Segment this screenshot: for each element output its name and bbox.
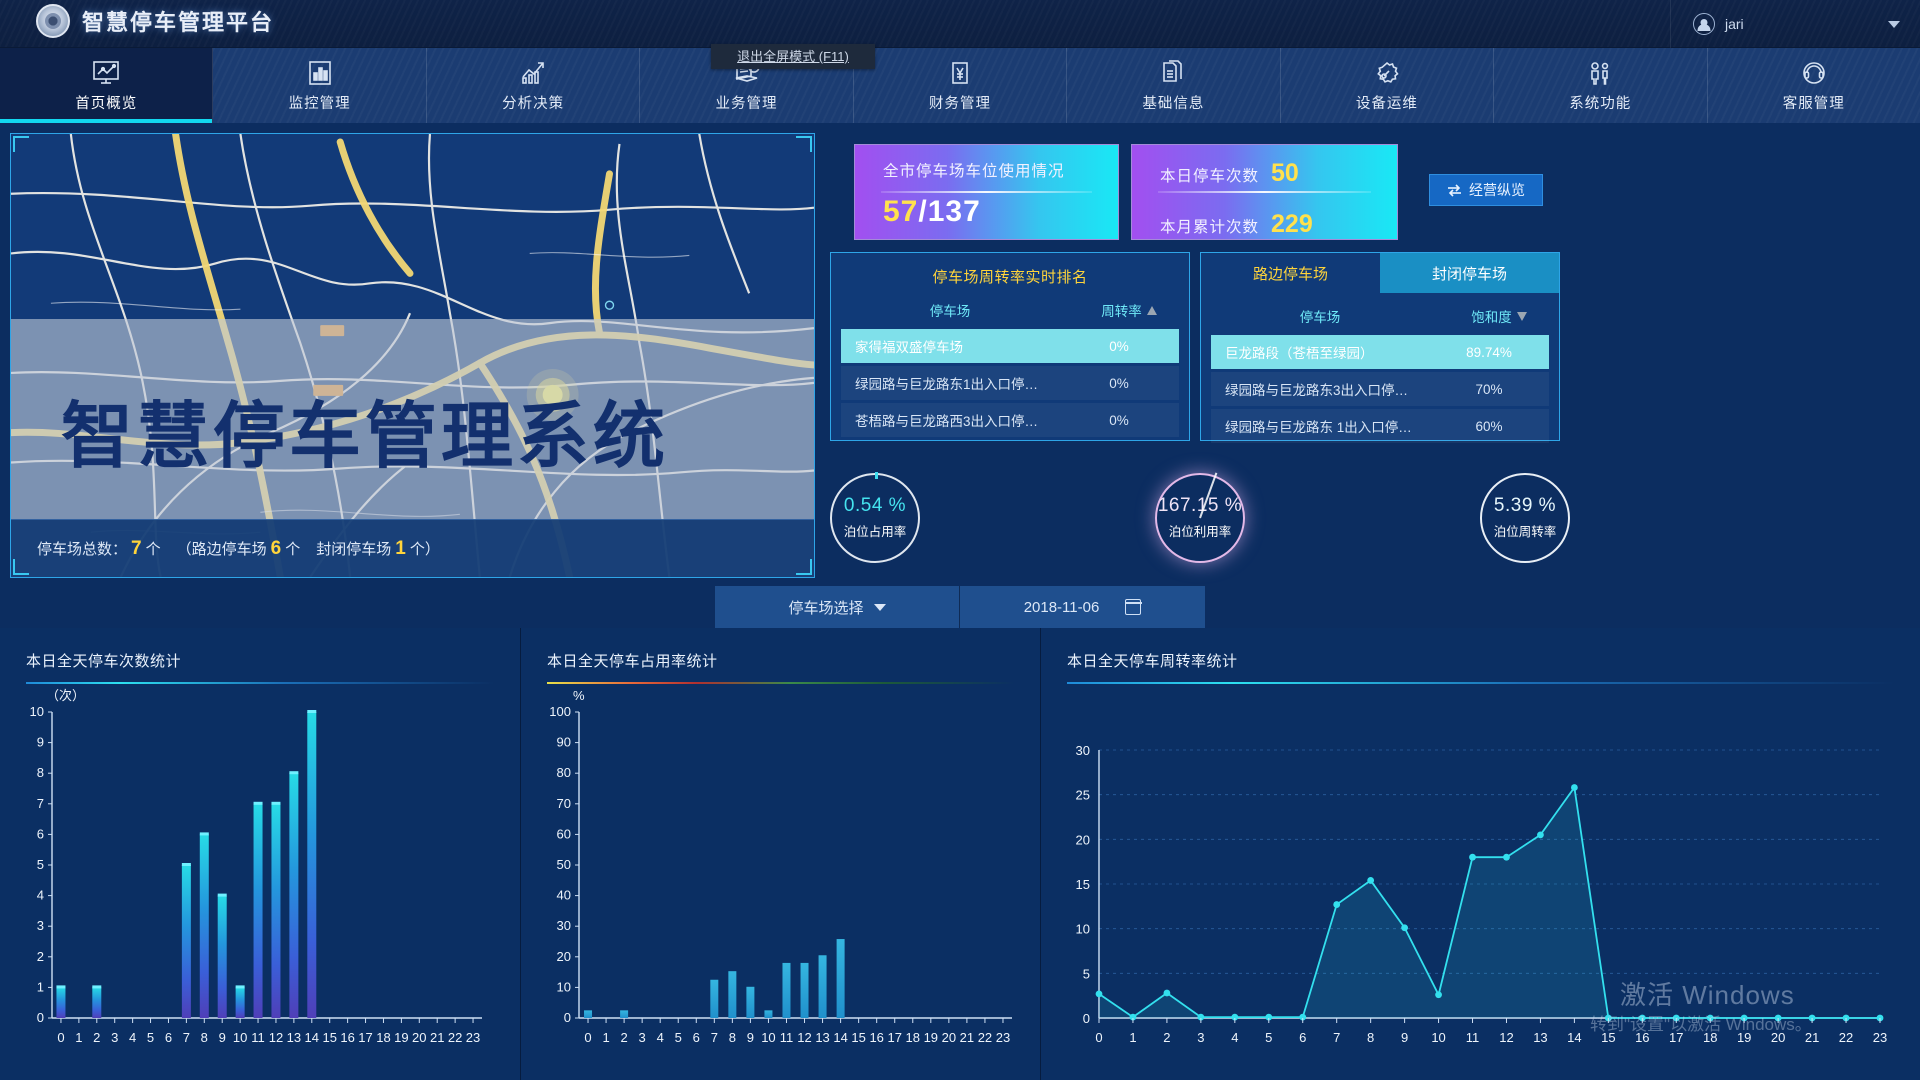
row-name: 家得福双盛停车场 [841,336,1059,356]
gauge-caption: 泊位利用率 [1169,521,1232,540]
svg-text:4: 4 [129,1030,136,1045]
svg-text:9: 9 [1401,1030,1408,1045]
police-emblem-icon [36,4,70,38]
svg-text:17: 17 [887,1030,901,1045]
svg-text:3: 3 [111,1030,118,1045]
chart-panel-counts: 本日全天停车次数统计 （次）01234567891001234567891011… [0,628,520,1080]
title-rule [547,682,1014,684]
svg-text:5: 5 [1083,966,1090,981]
headset-icon [1799,59,1829,87]
svg-text:22: 22 [448,1030,462,1045]
flow-arrows-icon [1447,184,1462,197]
svg-text:6: 6 [165,1030,172,1045]
windows-activate-line1: 激活 Windows [1620,975,1795,1012]
row-value: 0% [1059,413,1179,428]
fullscreen-tooltip: 退出全屏模式 (F11) [711,44,875,69]
nav-item-basic-info[interactable]: 基础信息 [1067,48,1280,123]
svg-text:1: 1 [602,1030,609,1045]
svg-text:70: 70 [557,796,571,811]
svg-text:15: 15 [1076,877,1090,892]
svg-text:0: 0 [57,1030,64,1045]
table-row[interactable]: 绿园路与巨龙路东3出入口停… 70% [1211,372,1549,406]
topbar-texture [0,0,1920,47]
turnover-rank-panel: 停车场周转率实时排名 停车场 周转率 家得福双盛停车场 0% 绿园路与巨龙路东1… [830,252,1190,441]
svg-text:2: 2 [620,1030,627,1045]
main-nav: 首页概览 监控管理 分析决策 业务管理 财务管理 基础信息 设备运维 系统功能 [0,48,1920,123]
svg-text:15: 15 [851,1030,865,1045]
svg-text:16: 16 [869,1030,883,1045]
chart-panel-occupancy: 本日全天停车占用率统计 %010203040506070809010001234… [521,628,1040,1080]
user-menu[interactable]: jari [1670,0,1920,48]
svg-text:2: 2 [93,1030,100,1045]
gauge-utilization: 167.15 % 泊位利用率 [1155,473,1245,563]
roadside-label: （路边停车场 [161,538,267,559]
bar-chart-box-icon [305,59,335,87]
svg-text:8: 8 [1367,1030,1374,1045]
svg-text:10: 10 [1076,922,1090,937]
divider [1158,191,1371,193]
svg-text:3: 3 [37,918,44,933]
chart-title: 本日全天停车次数统计 [0,628,520,671]
col-turnover-label: 周转率 [1101,300,1142,320]
col-saturation[interactable]: 饱和度 [1439,306,1559,326]
svg-text:30: 30 [1076,743,1090,758]
nav-item-home[interactable]: 首页概览 [0,48,213,123]
svg-text:11: 11 [1466,1030,1480,1045]
svg-text:0: 0 [37,1010,44,1025]
today-value: 50 [1271,159,1299,188]
calendar-icon[interactable] [1125,599,1141,615]
svg-text:9: 9 [37,735,44,750]
row-name: 巨龙路段（苍梧至绿园） [1211,342,1429,362]
svg-text:6: 6 [37,826,44,841]
svg-text:14: 14 [305,1030,319,1045]
nav-label: 财务管理 [929,92,991,113]
rank-header: 停车场 饱和度 [1201,293,1559,335]
svg-text:10: 10 [557,979,571,994]
svg-text:12: 12 [1499,1030,1513,1045]
svg-text:50: 50 [557,857,571,872]
gauge-occupancy: 0.54 % 泊位占用率 [830,473,920,563]
svg-text:5: 5 [37,857,44,872]
business-overview-button[interactable]: 经营纵览 [1429,174,1543,206]
svg-text:100: 100 [549,704,571,719]
yuan-icon [945,59,975,87]
svg-text:13: 13 [815,1030,829,1045]
user-name: jari [1725,16,1744,32]
select-label: 停车场选择 [788,597,863,618]
row-value: 70% [1429,382,1549,397]
svg-text:16: 16 [340,1030,354,1045]
svg-text:23: 23 [466,1030,480,1045]
svg-text:20: 20 [557,949,571,964]
svg-text:10: 10 [1431,1030,1445,1045]
svg-text:8: 8 [729,1030,736,1045]
svg-text:21: 21 [430,1030,444,1045]
row-value: 0% [1059,339,1179,354]
today-label: 本日停车次数 [1160,164,1259,186]
svg-text:19: 19 [394,1030,408,1045]
chevron-down-icon[interactable] [1888,21,1900,28]
arrow-up-icon[interactable] [1147,306,1157,315]
svg-text:17: 17 [358,1030,372,1045]
nav-label: 首页概览 [75,92,137,113]
chart-title: 本日全天停车周转率统计 [1041,628,1920,671]
svg-text:90: 90 [557,735,571,750]
svg-text:23: 23 [1873,1030,1887,1045]
nav-label: 设备运维 [1356,92,1418,113]
row-value: 89.74% [1429,345,1549,360]
nav-label: 分析决策 [502,92,564,113]
total-unit: 个 [146,538,161,559]
svg-text:13: 13 [1533,1030,1547,1045]
roadside-unit: 个 [285,538,300,559]
saturation-rank-panel: 路边停车场 封闭停车场 停车场 饱和度 巨龙路段（苍梧至绿园） 89.74% 绿… [1200,252,1560,441]
table-row[interactable]: 巨龙路段（苍梧至绿园） 89.74% [1211,335,1549,369]
tab-closed[interactable]: 封闭停车场 [1380,253,1559,293]
nav-item-system[interactable]: 系统功能 [1494,48,1707,123]
nav-label: 监控管理 [289,92,351,113]
svg-text:25: 25 [1076,788,1090,803]
svg-text:19: 19 [924,1030,938,1045]
title-rule [26,682,494,684]
svg-text:10: 10 [30,704,44,719]
svg-text:8: 8 [201,1030,208,1045]
monitor-chart-icon [91,59,121,87]
rank-title: 停车场周转率实时排名 [831,253,1189,287]
table-row[interactable]: 苍梧路与巨龙路西3出入口停… 0% [841,403,1179,437]
svg-text:1: 1 [1129,1030,1136,1045]
col-saturation-label: 饱和度 [1471,306,1512,326]
svg-text:9: 9 [747,1030,754,1045]
closed-value: 1 [391,538,410,560]
row-name: 绿园路与巨龙路东 1出入口停… [1211,416,1429,436]
nav-label: 基础信息 [1142,92,1204,113]
svg-text:0: 0 [1095,1030,1102,1045]
map-watermark: 智慧停车管理系统 [61,377,669,482]
gear-wrench-icon [1372,59,1402,87]
filter-bar: 停车场选择 2018-11-06 [0,586,1920,628]
date-value: 2018-11-06 [1024,599,1100,616]
title-rule [1067,682,1894,684]
total-value: 137 [928,195,981,228]
svg-text:14: 14 [833,1030,847,1045]
corner-mark [796,559,812,575]
svg-text:8: 8 [37,765,44,780]
svg-text:15: 15 [322,1030,336,1045]
corner-mark [13,559,29,575]
chart-title: 本日全天停车占用率统计 [521,628,1040,671]
nav-item-finance[interactable]: 财务管理 [854,48,1067,123]
month-label: 本月累计次数 [1160,215,1259,237]
svg-text:%: % [573,688,585,703]
gauge-turnover: 5.39 % 泊位周转率 [1480,473,1570,563]
svg-text:5: 5 [675,1030,682,1045]
svg-text:7: 7 [711,1030,718,1045]
rank-header: 停车场 周转率 [831,287,1189,329]
tab-roadside[interactable]: 路边停车场 [1201,253,1380,293]
nav-label: 客服管理 [1783,92,1845,113]
used-value: 57 [883,195,918,228]
svg-text:60: 60 [557,826,571,841]
parking-lot-select[interactable]: 停车场选择 [715,586,960,628]
table-row[interactable]: 绿园路与巨龙路东1出入口停… 0% [841,366,1179,400]
svg-text:21: 21 [960,1030,974,1045]
svg-text:12: 12 [797,1030,811,1045]
row-name: 绿园路与巨龙路东3出入口停… [1211,379,1429,399]
total-value: 7 [127,538,146,560]
month-value: 229 [1271,210,1313,239]
chart-plot-occupancy: %010203040506070809010001234567891011121… [521,698,1040,1068]
rank-tabs: 路边停车场 封闭停车场 [1201,253,1559,293]
svg-text:4: 4 [37,888,44,903]
gauge-row: 0.54 % 泊位占用率 167.15 % 泊位利用率 5.39 % 泊位周转率 [830,455,1570,580]
nav-item-devices[interactable]: 设备运维 [1281,48,1494,123]
svg-text:11: 11 [251,1030,265,1045]
row-name: 绿园路与巨龙路东1出入口停… [841,373,1059,393]
chevron-down-icon[interactable] [874,604,886,611]
app-title: 智慧停车管理平台 [82,5,274,37]
svg-text:7: 7 [37,796,44,811]
svg-text:30: 30 [557,918,571,933]
svg-text:20: 20 [412,1030,426,1045]
trend-bars-icon [518,59,548,87]
svg-text:10: 10 [761,1030,775,1045]
nav-label: 业务管理 [716,92,778,113]
gauge-value: 5.39 % [1494,495,1556,517]
nav-item-analysis[interactable]: 分析决策 [427,48,640,123]
row-value: 0% [1059,376,1179,391]
svg-text:7: 7 [183,1030,190,1045]
map-panel[interactable]: 智慧停车管理系统 停车场总数： 7 个 （路边停车场 6 个 封闭停车场 1 个… [10,133,815,578]
date-picker[interactable]: 2018-11-06 [960,586,1205,628]
svg-text:12: 12 [269,1030,283,1045]
svg-text:40: 40 [557,888,571,903]
svg-text:22: 22 [978,1030,992,1045]
svg-text:3: 3 [1197,1030,1204,1045]
stat-value: 57/137 [883,195,1118,229]
svg-text:13: 13 [287,1030,301,1045]
svg-text:20: 20 [942,1030,956,1045]
svg-text:1: 1 [37,979,44,994]
gauge-caption: 泊位占用率 [844,521,907,540]
slash: / [918,195,927,228]
row-name: 苍梧路与巨龙路西3出入口停… [841,410,1059,430]
month-row: 本月累计次数 229 [1160,210,1397,239]
svg-text:14: 14 [1567,1030,1581,1045]
svg-text:2: 2 [1163,1030,1170,1045]
svg-text:5: 5 [1265,1030,1272,1045]
nav-label: 系统功能 [1569,92,1631,113]
svg-text:22: 22 [1839,1030,1853,1045]
today-row: 本日停车次数 50 [1160,159,1397,188]
table-row[interactable]: 家得福双盛停车场 0% [841,329,1179,363]
col-parking-lot: 停车场 [1201,306,1439,326]
svg-text:5: 5 [147,1030,154,1045]
chart-plot-counts: （次）0123456789100123456789101112131415161… [0,698,520,1068]
svg-text:2: 2 [37,949,44,964]
windows-activate-line2: 转到"设置"以激活 Windows。 [1590,1010,1812,1035]
svg-text:0: 0 [1083,1011,1090,1026]
corner-mark [796,136,812,152]
nav-item-monitoring[interactable]: 监控管理 [213,48,426,123]
brand: 智慧停车管理平台 [36,4,274,38]
svg-text:（次）: （次） [46,688,85,703]
table-row[interactable]: 绿园路与巨龙路东 1出入口停… 60% [1211,409,1549,443]
svg-text:7: 7 [1333,1030,1340,1045]
svg-text:6: 6 [693,1030,700,1045]
col-parking-lot: 停车场 [831,300,1069,320]
svg-text:1: 1 [75,1030,82,1045]
svg-text:4: 4 [657,1030,664,1045]
avatar [1693,13,1715,35]
gauge-caption: 泊位周转率 [1494,521,1557,540]
stat-label: 全市停车场车位使用情况 [883,159,1118,181]
people-icon [1585,59,1615,87]
svg-text:6: 6 [1299,1030,1306,1045]
col-turnover[interactable]: 周转率 [1069,300,1189,320]
arrow-down-icon[interactable] [1517,312,1527,321]
row-value: 60% [1429,419,1549,434]
overview-label: 经营纵览 [1469,180,1525,200]
closed-label: 封闭停车场 [300,538,391,559]
nav-item-customer-service[interactable]: 客服管理 [1708,48,1920,123]
svg-text:80: 80 [557,765,571,780]
svg-text:9: 9 [219,1030,226,1045]
svg-text:18: 18 [906,1030,920,1045]
gauge-value: 0.54 % [844,495,906,517]
closed-unit: 个） [410,538,440,559]
svg-text:10: 10 [233,1030,247,1045]
svg-text:20: 20 [1076,832,1090,847]
gauge-tick [875,472,878,479]
svg-text:0: 0 [584,1030,591,1045]
svg-text:23: 23 [996,1030,1010,1045]
svg-text:18: 18 [376,1030,390,1045]
svg-text:11: 11 [780,1030,794,1045]
documents-icon [1158,59,1188,87]
stat-card-today-counts: 本日停车次数 50 本月累计次数 229 [1131,144,1398,240]
svg-text:0: 0 [564,1010,571,1025]
svg-text:3: 3 [639,1030,646,1045]
total-label: 停车场总数： [37,538,127,559]
stat-card-city-usage: 全市停车场车位使用情况 57/137 [854,144,1119,240]
corner-mark [13,136,29,152]
map-summary: 停车场总数： 7 个 （路边停车场 6 个 封闭停车场 1 个） [11,519,814,577]
divider [881,191,1092,193]
top-bar: 智慧停车管理平台 jari [0,0,1920,48]
svg-text:4: 4 [1231,1030,1238,1045]
roadside-value: 6 [267,538,286,560]
